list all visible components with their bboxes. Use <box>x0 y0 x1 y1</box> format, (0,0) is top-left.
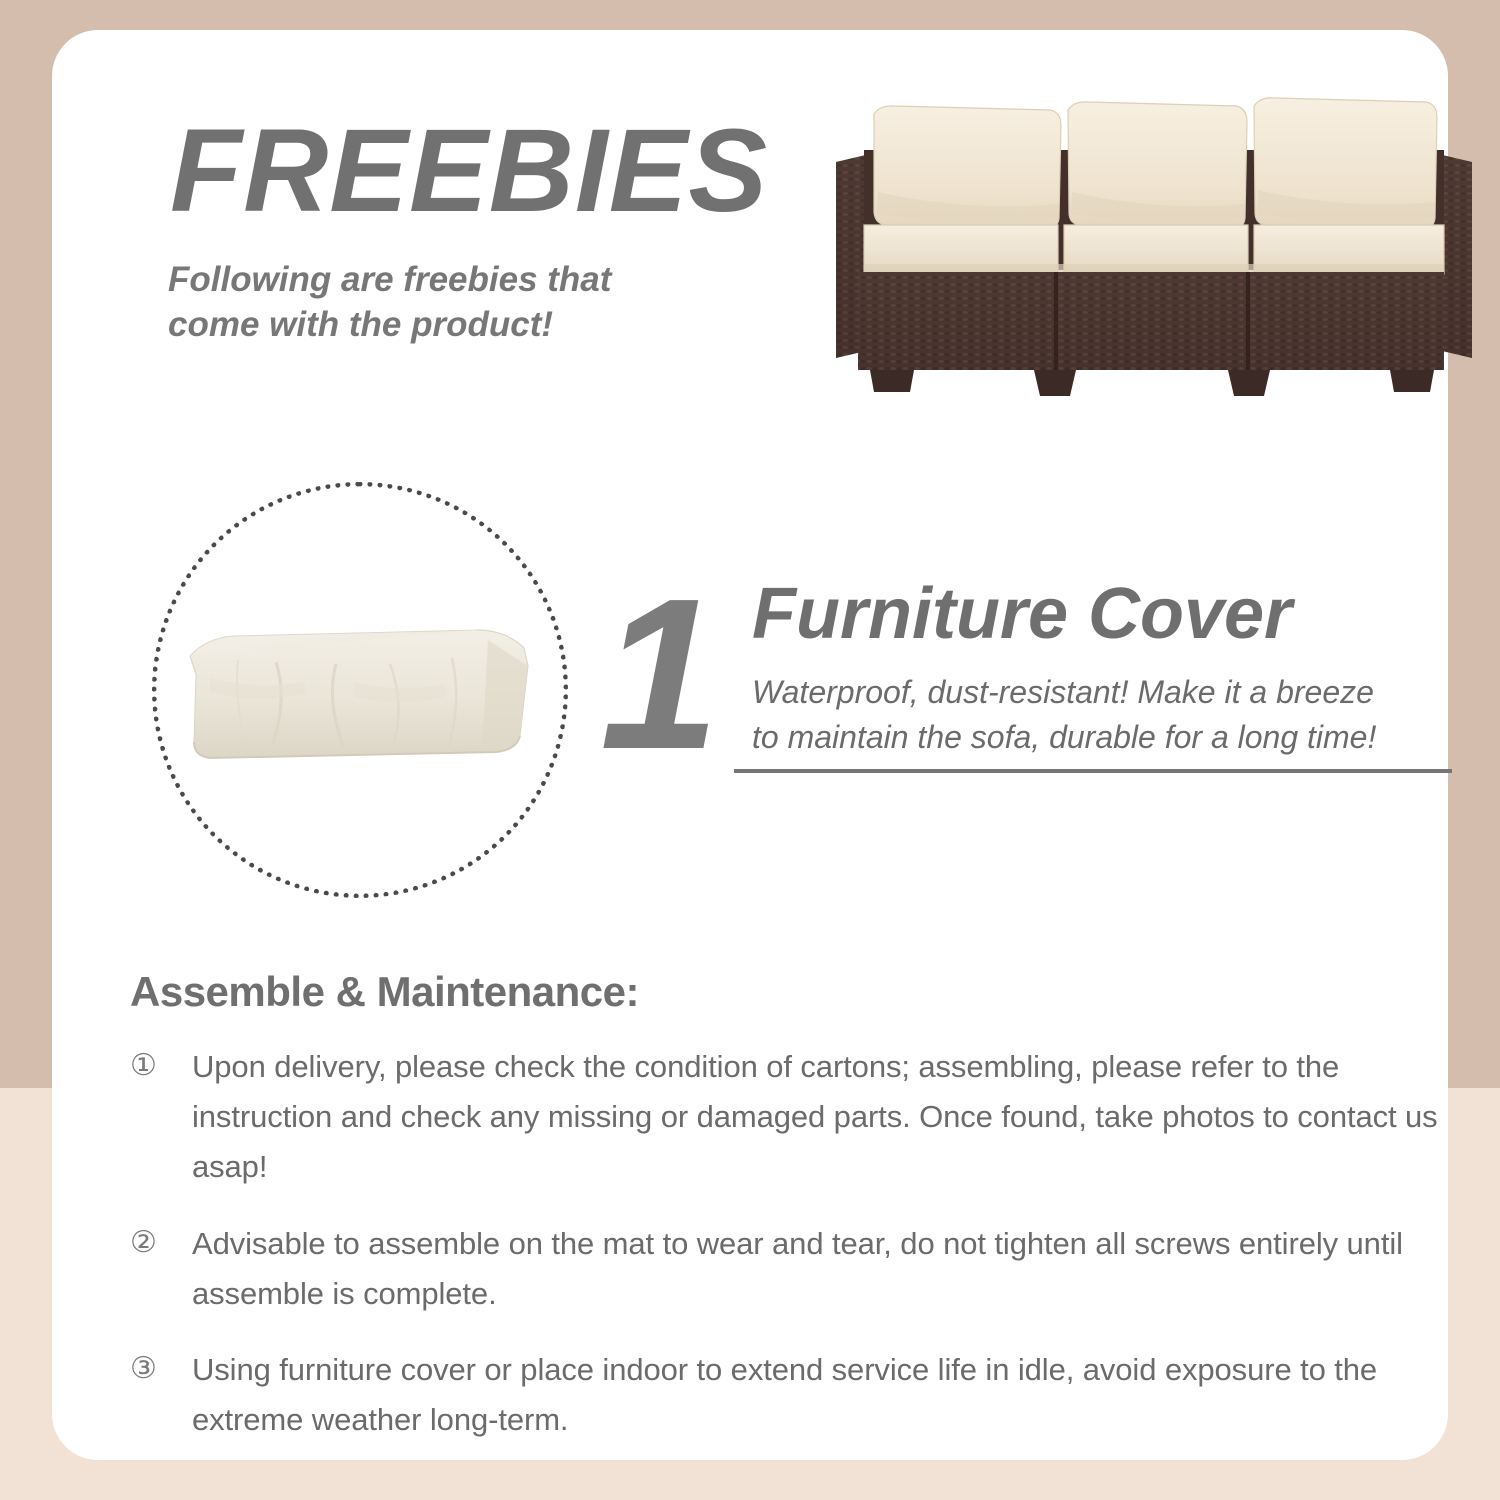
list-marker-2: ② <box>130 1219 192 1268</box>
content-card: FREEBIES Following are freebies that com… <box>52 30 1448 1460</box>
feature-number: 1 <box>600 566 716 781</box>
list-text-1: Upon delivery, please check the conditio… <box>192 1042 1482 1193</box>
furniture-cover-thumbnail <box>152 482 568 898</box>
product-sofa-image <box>818 92 1490 410</box>
page-title: FREEBIES <box>170 112 768 230</box>
maintenance-list: ① Upon delivery, please check the condit… <box>130 1042 1482 1472</box>
list-text-3: Using furniture cover or place indoor to… <box>192 1345 1482 1445</box>
list-marker-3: ③ <box>130 1345 192 1394</box>
list-text-2: Advisable to assemble on the mat to wear… <box>192 1219 1482 1319</box>
feature-title: Furniture Cover <box>752 578 1292 650</box>
cover-illustration <box>176 622 544 772</box>
list-item: ② Advisable to assemble on the mat to we… <box>130 1219 1482 1319</box>
maintenance-section-title: Assemble & Maintenance: <box>130 968 639 1016</box>
feature-divider <box>734 769 1452 773</box>
sofa-illustration <box>818 92 1490 410</box>
furniture-cover-image <box>176 622 544 772</box>
page-subtitle: Following are freebies that come with th… <box>168 258 728 348</box>
list-marker-1: ① <box>130 1042 192 1091</box>
list-item: ③ Using furniture cover or place indoor … <box>130 1345 1482 1445</box>
feature-description: Waterproof, dust-resistant! Make it a br… <box>752 670 1472 761</box>
list-item: ① Upon delivery, please check the condit… <box>130 1042 1482 1193</box>
